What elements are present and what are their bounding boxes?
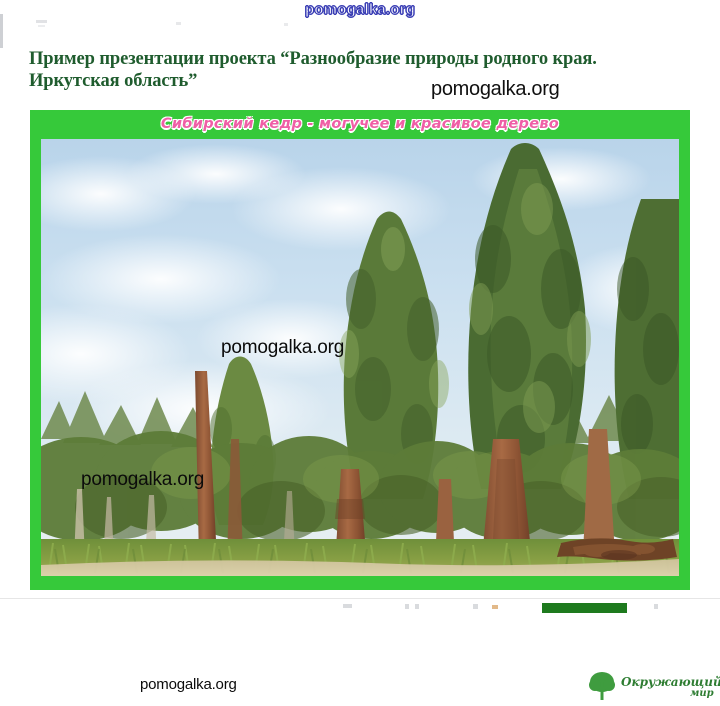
scan-artifact-mark (176, 22, 181, 25)
footer-artifact (492, 605, 498, 609)
footer-artifact (343, 604, 352, 608)
forest-photograph: pomogalka.org pomogalka.org pomogalka.or… (41, 139, 679, 576)
watermark-top: pomogalka.org (0, 1, 720, 18)
footer-artifact (654, 604, 658, 609)
slide-frame: Сибирский кедр - могучее и красивое дере… (30, 110, 690, 590)
logo-line-2: мир (621, 688, 720, 699)
page-root: { "page": { "language": "ru" }, "waterma… (0, 0, 720, 615)
footer-artifact (415, 604, 419, 609)
logo-text: Окружающий мир (621, 677, 720, 699)
watermark-under-title: pomogalka.org (431, 78, 559, 101)
footer-artifact (405, 604, 409, 609)
scan-artifact-mark (38, 25, 45, 27)
logo-line-1: Окружающий (621, 677, 720, 688)
scan-artifact-mark (284, 23, 288, 26)
footer-green-bar (542, 603, 627, 613)
okruzhayushchiy-mir-logo: Окружающий мир (588, 672, 716, 704)
footer-artifact (473, 604, 478, 609)
watermark-frame-bottom-left: pomogalka.org (140, 676, 237, 693)
page-title: Пример презентации проекта “Разнообразие… (29, 48, 669, 92)
scan-artifact-mark (36, 20, 47, 23)
scan-artifact-left-bar (0, 14, 3, 48)
slide-heading: Сибирский кедр - могучее и красивое дере… (30, 110, 690, 139)
tree-icon (588, 671, 616, 706)
